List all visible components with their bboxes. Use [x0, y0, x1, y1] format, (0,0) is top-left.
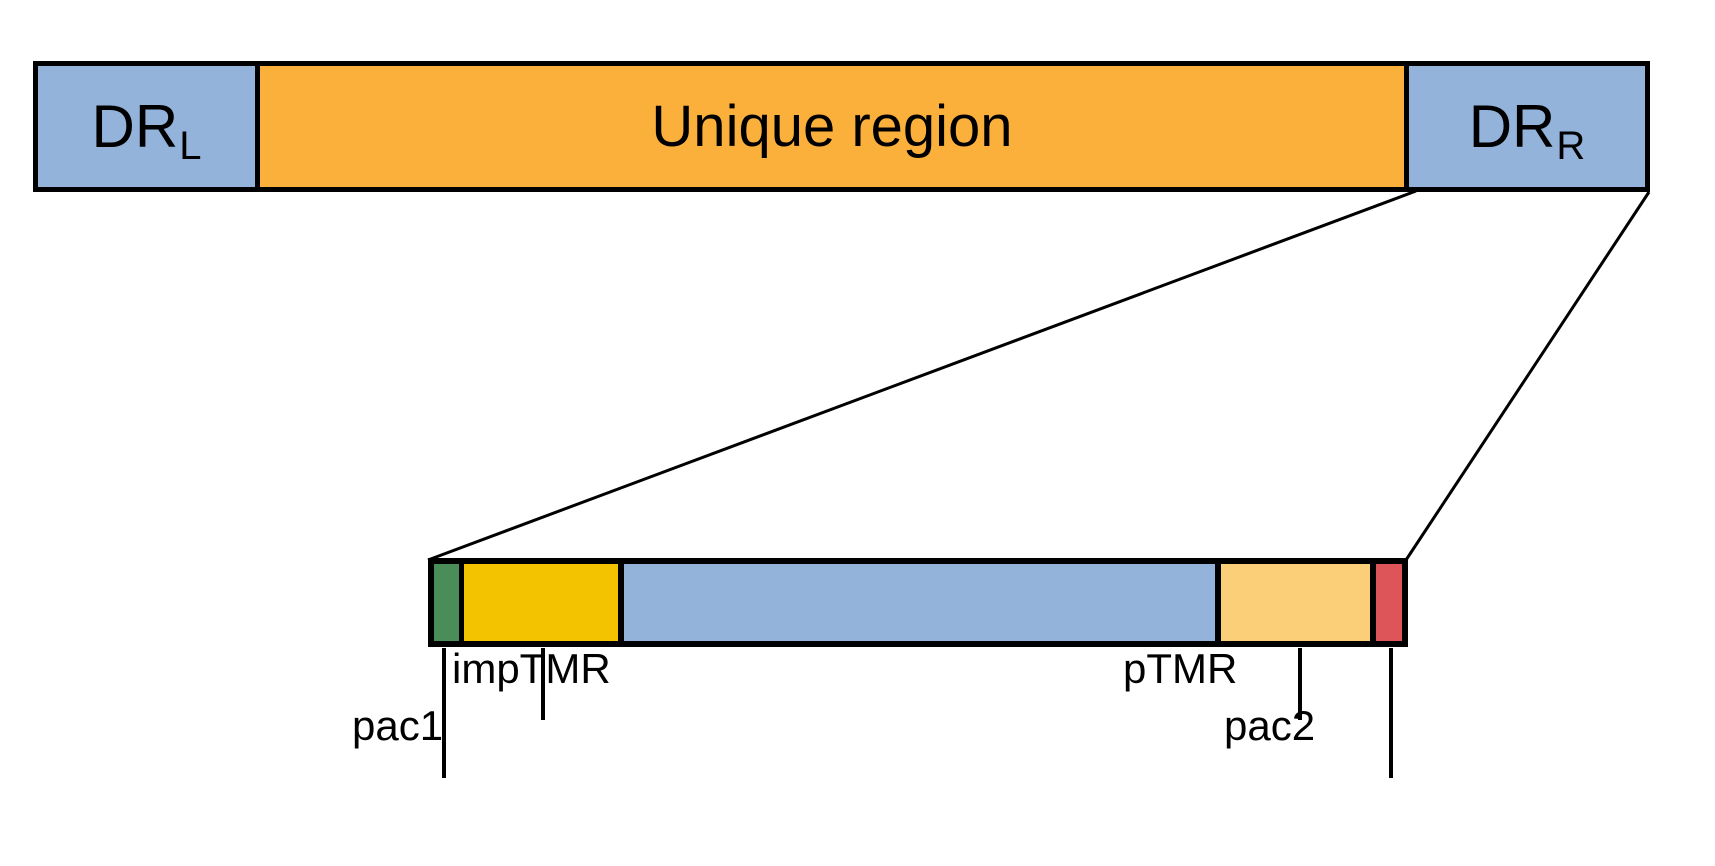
- dr-left-label-subscript: L: [179, 124, 201, 168]
- detail-segment-pac1: [434, 564, 464, 641]
- detail-segment-imptmr: [464, 564, 624, 641]
- dr-right-label-subscript: R: [1556, 124, 1585, 168]
- dr-left-label-text: DR: [92, 93, 179, 160]
- figure-canvas: DRL Unique region DRR impTMR pac1 pTMR p…: [0, 0, 1715, 866]
- callout-label-pac2: pac2: [1224, 705, 1315, 747]
- detail-segment-ptmr: [1221, 564, 1376, 641]
- dr-left-label: DRL: [92, 97, 202, 157]
- genome-bar: DRL Unique region DRR: [33, 61, 1650, 192]
- detail-segment-core: [624, 564, 1221, 641]
- dr-right-label-text: DR: [1469, 93, 1556, 160]
- unique-region-label: Unique region: [651, 98, 1012, 156]
- callout-label-imptmr: impTMR: [452, 648, 611, 690]
- genome-segment-unique-region: Unique region: [260, 66, 1409, 187]
- expansion-line-left: [428, 191, 1416, 560]
- expansion-line-right: [1406, 192, 1649, 560]
- direct-repeat-detail-bar: [428, 558, 1408, 647]
- dr-right-label: DRR: [1469, 97, 1586, 157]
- genome-segment-dr-right: DRR: [1409, 66, 1645, 187]
- genome-segment-dr-left: DRL: [38, 66, 260, 187]
- callout-label-pac1: pac1: [352, 705, 443, 747]
- callout-label-ptmr: pTMR: [1123, 648, 1237, 690]
- detail-segment-pac2: [1376, 564, 1402, 641]
